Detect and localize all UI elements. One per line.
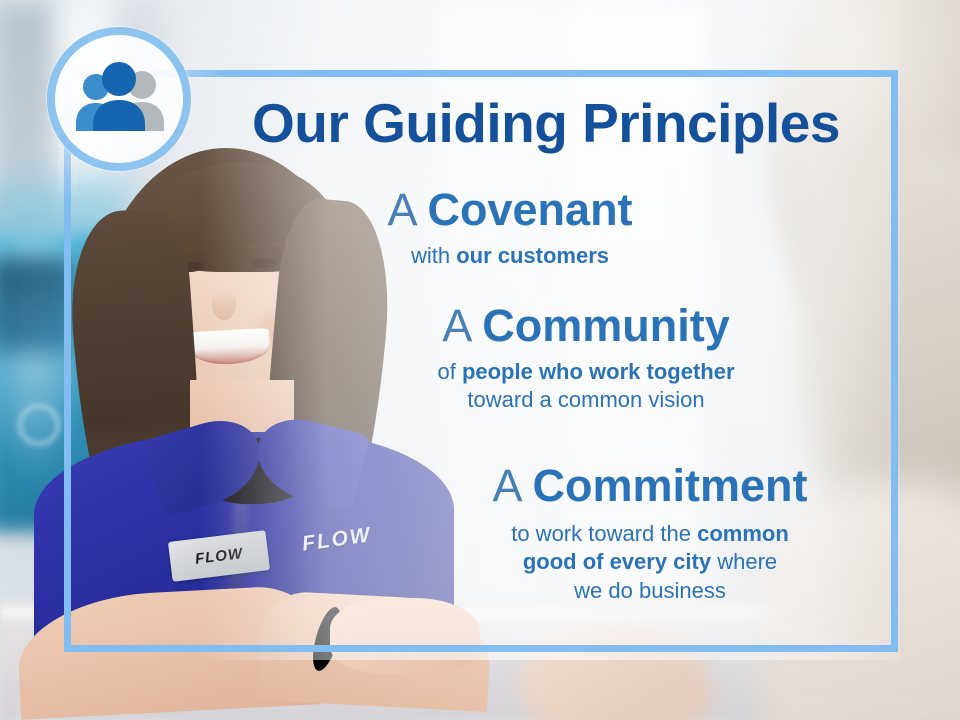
employee-nose <box>212 290 236 320</box>
principle-commitment: A Commitment to work toward the commongo… <box>440 462 860 605</box>
principle-subtext-line: good of every city where <box>440 548 860 577</box>
principle-subtext: to work toward the commongood of every c… <box>440 520 860 606</box>
principle-keyword: Community <box>482 300 730 351</box>
principle-subtext: with our customers <box>340 242 680 271</box>
plain-text: we do business <box>574 578 726 603</box>
emphasis-text: people who work together <box>462 359 735 384</box>
people-group-icon <box>67 62 171 136</box>
principle-keyword: Commitment <box>533 460 808 511</box>
principle-subtext-line: of people who work together <box>386 358 786 387</box>
employee-clasped-hands <box>330 598 480 674</box>
principle-subtext: of people who work togethertoward a comm… <box>386 358 786 415</box>
principle-heading: A Covenant <box>340 186 680 234</box>
name-badge-brand-text: FLOW <box>194 545 244 568</box>
principle-community: A Community of people who work togethert… <box>386 302 786 415</box>
principle-subtext-line: toward a common vision <box>386 386 786 415</box>
principle-heading: A Community <box>386 302 786 350</box>
plain-text: to work toward the <box>511 521 697 546</box>
principle-subtext-line: with our customers <box>340 242 680 271</box>
emphasis-text: common <box>697 521 789 546</box>
guiding-principles-graphic: FLOW FLOW Our Guiding Prin <box>0 0 960 720</box>
plain-text: toward a common vision <box>467 387 704 412</box>
page-title: Our Guiding Principles <box>216 95 876 153</box>
emphasis-text: good of every city <box>523 549 711 574</box>
principle-heading: A Commitment <box>440 462 860 510</box>
principle-covenant: A Covenant with our customers <box>340 186 680 270</box>
principle-article: A <box>387 184 415 235</box>
plain-text: of <box>437 359 461 384</box>
plain-text: with <box>411 243 456 268</box>
principle-subtext-line: we do business <box>440 577 860 606</box>
emphasis-text: our customers <box>456 243 609 268</box>
people-group-icon-badge <box>47 27 191 171</box>
principle-subtext-line: to work toward the common <box>440 520 860 549</box>
plain-text: where <box>711 549 777 574</box>
principle-article: A <box>442 300 470 351</box>
principle-article: A <box>492 460 520 511</box>
principle-keyword: Covenant <box>428 184 633 235</box>
